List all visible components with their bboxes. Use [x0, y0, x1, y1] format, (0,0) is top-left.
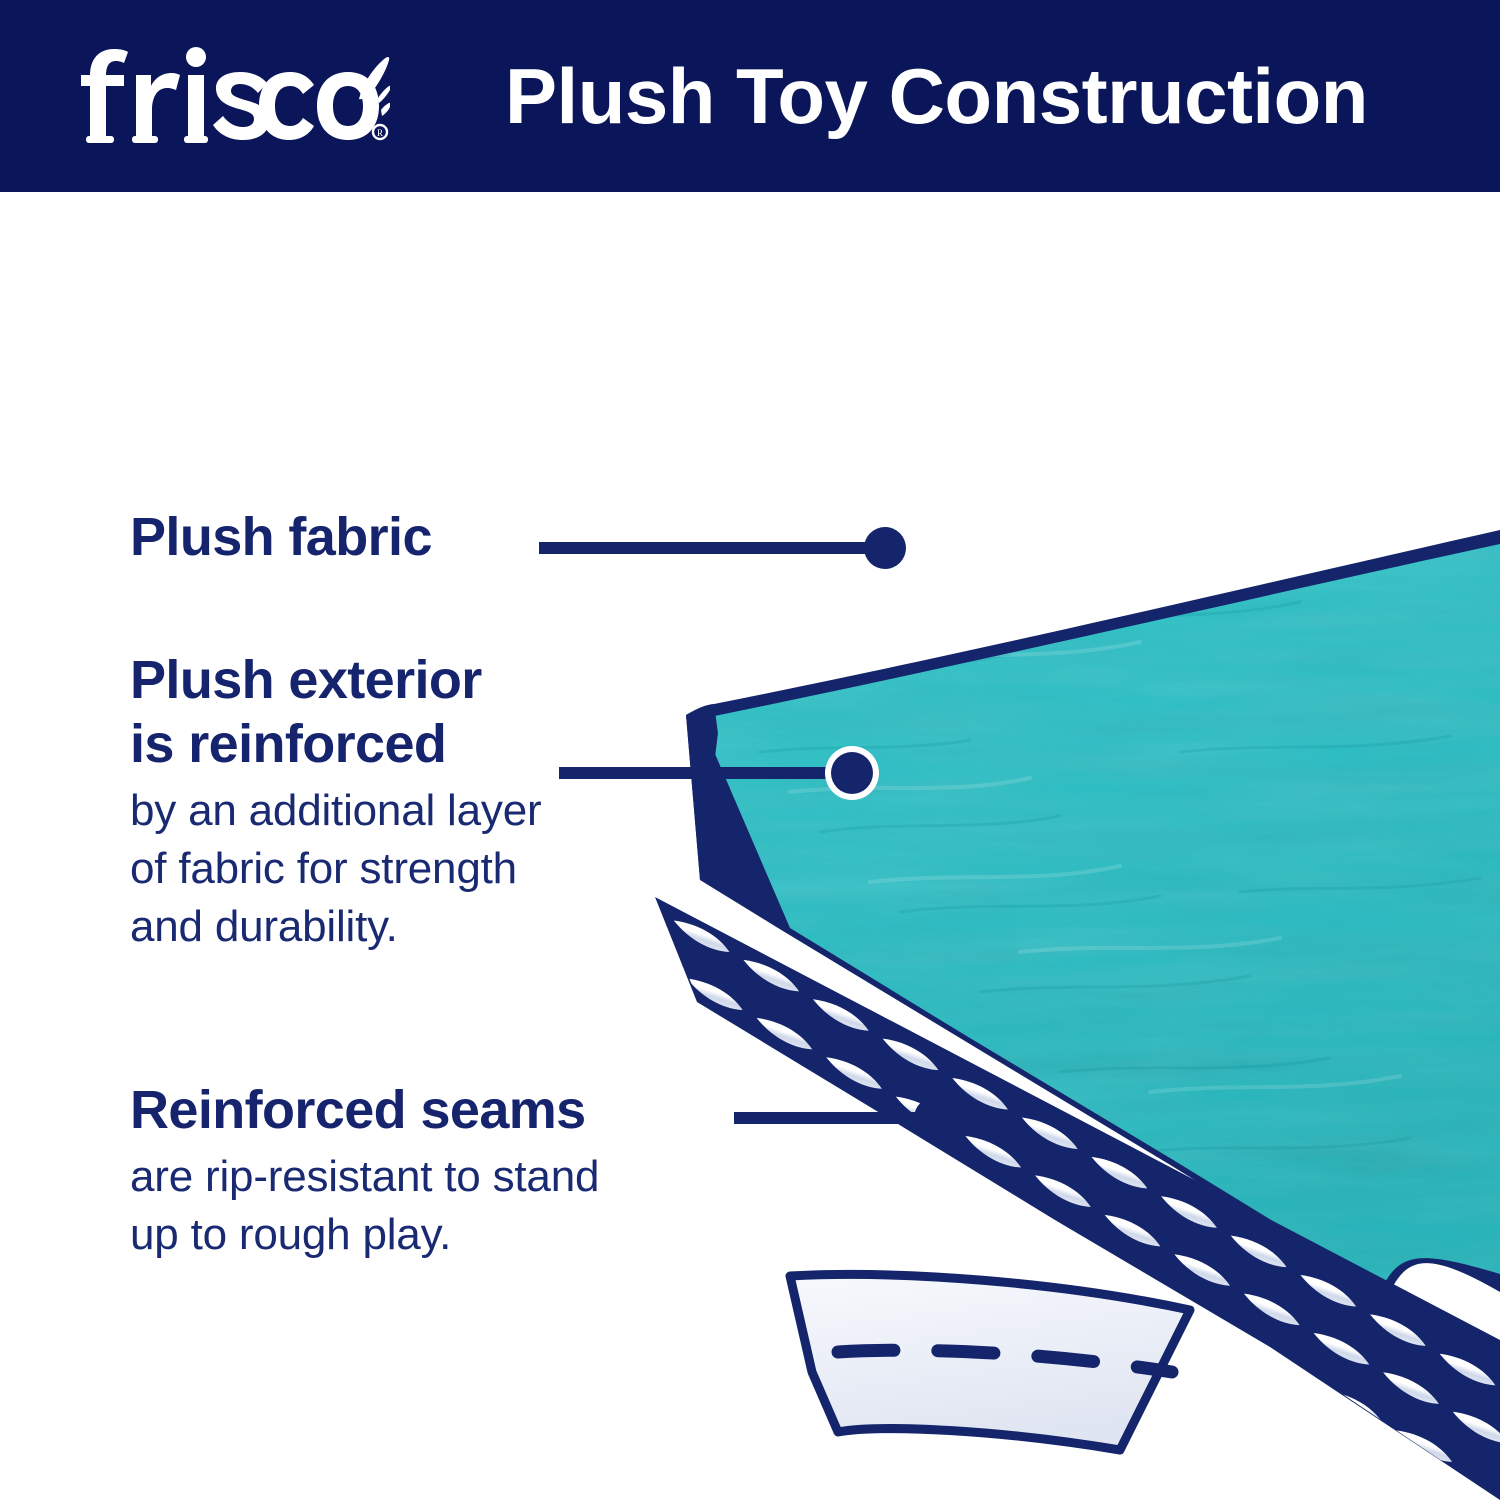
callout-plush-fabric: Plush fabric [130, 505, 432, 569]
leader-line-reinforced-seams [740, 1097, 956, 1139]
leader-line-plush-fabric [545, 527, 906, 569]
callout-heading: Reinforced seams [130, 1078, 599, 1142]
seam-flap [790, 1274, 1190, 1450]
frisco-logo-icon: R [80, 42, 390, 146]
infographic-page: R Plush Toy Construction [0, 0, 1500, 1500]
callout-heading: Plush fabric [130, 505, 432, 569]
callout-heading: Plush exterior is reinforced [130, 648, 541, 776]
header-bar: R Plush Toy Construction [0, 0, 1500, 192]
svg-text:R: R [377, 128, 383, 138]
callout-body: by an additional layer of fabric for str… [130, 782, 541, 956]
callout-reinforced-seams: Reinforced seams are rip-resistant to st… [130, 1078, 599, 1264]
callout-body: are rip-resistant to stand up to rough p… [130, 1148, 599, 1264]
page-title: Plush Toy Construction [505, 44, 1368, 148]
callout-plush-exterior-reinforced: Plush exterior is reinforced by an addit… [130, 648, 541, 956]
